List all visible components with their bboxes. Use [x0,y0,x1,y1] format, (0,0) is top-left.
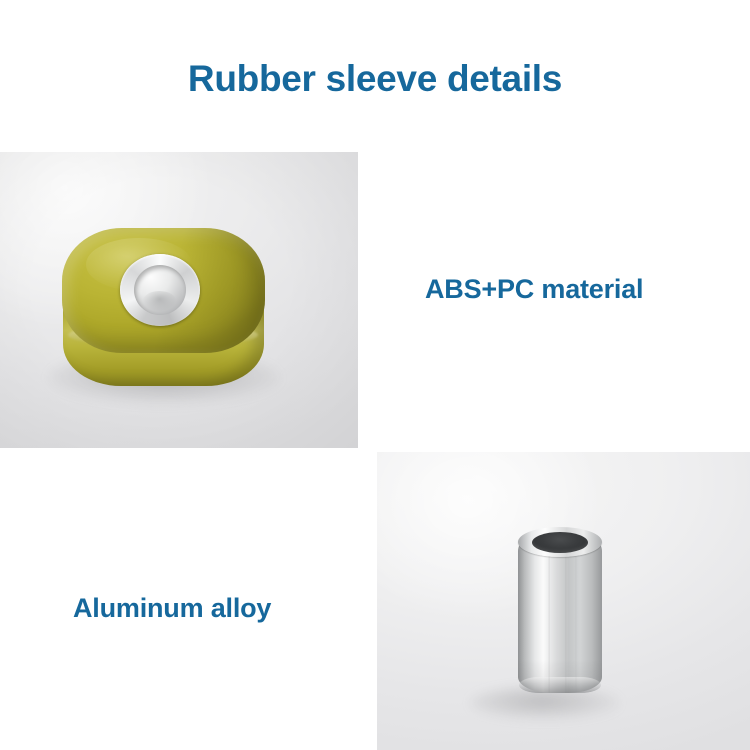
caption-abs-pc-material: ABS+PC material [425,272,643,306]
product-detail-page: Rubber sleeve details ABS+PC material Al… [0,0,750,750]
eyelet-bore [134,265,186,315]
sleeve-bore [532,532,588,553]
sleeve-base-edge [519,677,601,693]
aluminium-eyelet [120,254,200,326]
sleeve-body [518,541,602,693]
caption-aluminum-alloy: Aluminum alloy [73,591,271,625]
aluminum-sleeve-part [518,527,602,695]
page-title: Rubber sleeve details [0,55,750,103]
rubber-bushing-part [62,228,265,388]
